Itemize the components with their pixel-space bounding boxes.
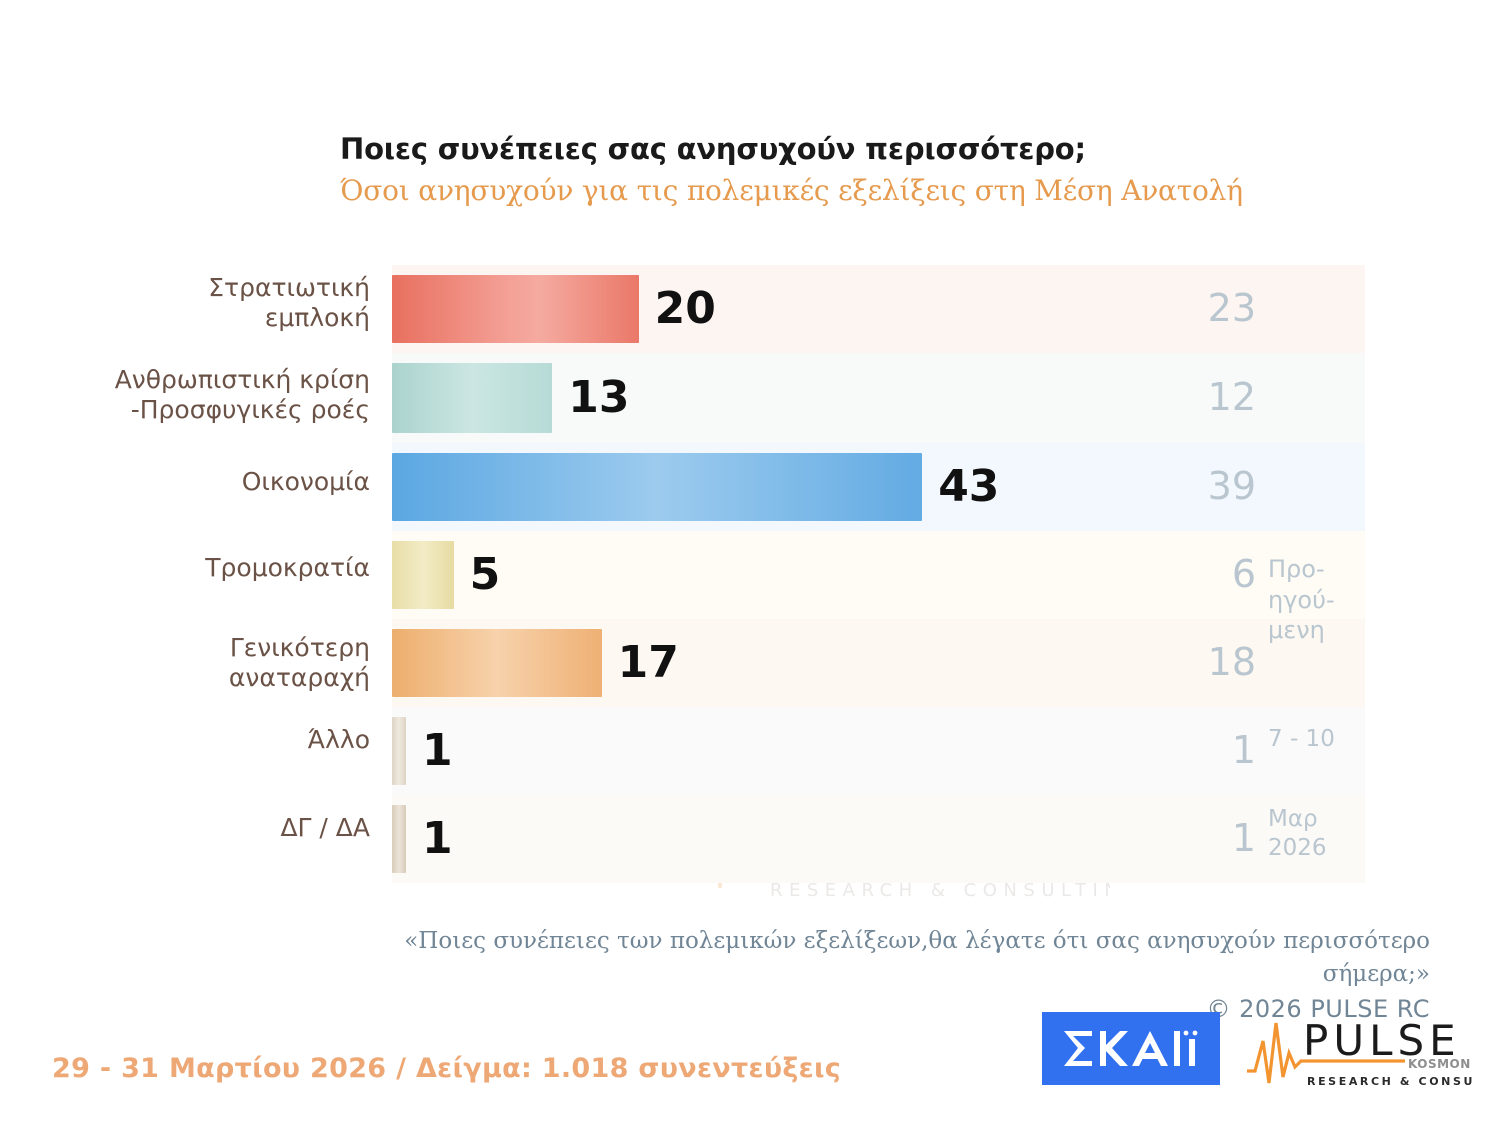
bar-group: 13 — [392, 363, 630, 433]
bar — [392, 541, 454, 609]
title-block: Ποιες συνέπειες σας ανησυχούν περισσότερ… — [340, 133, 1340, 208]
sidenote-date-line2: 2026 — [1268, 834, 1373, 863]
sidenote-date: Μαρ 2026 — [1268, 805, 1373, 864]
bar — [392, 453, 922, 521]
survey-question: «Ποιες συνέπειες των πολεμικών εξελίξεων… — [340, 925, 1430, 992]
previous-value: 39 — [1160, 467, 1256, 505]
previous-value: 18 — [1160, 643, 1256, 681]
category-label-line2: εμπλοκή — [40, 303, 370, 333]
previous-value: 23 — [1160, 289, 1256, 327]
bar-group: 1 — [392, 805, 453, 873]
sidenote-range: 7 - 10 — [1268, 725, 1373, 754]
category-label: Στρατιωτικήεμπλοκή — [40, 273, 370, 332]
sidenote-previous-line2: ηγού- — [1268, 585, 1373, 616]
bar-group: 1 — [392, 717, 453, 785]
bar-value: 20 — [655, 287, 716, 331]
skai-logo — [1042, 1012, 1220, 1085]
bar-chart: PULSE KOSMON RESEARCH & CONSULTING Στρατ… — [0, 265, 1500, 875]
previous-value: 1 — [1160, 731, 1256, 769]
bar-value: 1 — [422, 729, 453, 773]
sidenote-date-line1: Μαρ — [1268, 805, 1373, 834]
category-label: Οικονομία — [40, 467, 370, 497]
category-label: Ανθρωπιστική κρίση-Προσφυγικές ροές — [40, 365, 370, 424]
category-label-line2: αναταραχή — [40, 663, 370, 693]
category-label-line1: Στρατιωτική — [40, 273, 370, 303]
fieldwork-info: 29 - 31 Μαρτίου 2026 / Δείγμα: 1.018 συν… — [52, 1053, 841, 1084]
bar-group: 5 — [392, 541, 500, 609]
sidenote-previous: Προ- ηγού- μενη — [1268, 554, 1373, 646]
category-label-line1: Οικονομία — [40, 467, 370, 497]
page-subtitle: Όσοι ανησυχούν για τις πολεμικές εξελίξε… — [340, 174, 1340, 208]
sidenote-previous-line1: Προ- — [1268, 554, 1373, 585]
category-label: Τρομοκρατία — [40, 553, 370, 583]
bar — [392, 805, 406, 873]
category-label-line1: Ανθρωπιστική κρίση — [40, 365, 370, 395]
bar-value: 13 — [568, 376, 629, 420]
bar — [392, 629, 602, 697]
bar-value: 17 — [618, 641, 679, 685]
bar — [392, 275, 639, 343]
svg-text:RESEARCH & CONSULTING: RESEARCH & CONSULTING — [1307, 1075, 1473, 1088]
previous-value: 6 — [1160, 555, 1256, 593]
category-label-line2: -Προσφυγικές ροές — [40, 395, 370, 425]
bar-value: 1 — [422, 817, 453, 861]
bar-value: 43 — [938, 465, 999, 509]
category-label-line1: ΔΓ / ΔΑ — [40, 813, 370, 843]
bar-group: 20 — [392, 275, 716, 343]
svg-text:RESEARCH & CONSULTING: RESEARCH & CONSULTING — [770, 880, 1110, 901]
bar-group: 43 — [392, 453, 999, 521]
category-label: ΔΓ / ΔΑ — [40, 813, 370, 843]
bar — [392, 363, 552, 433]
category-label: Άλλο — [40, 725, 370, 755]
bar-group: 17 — [392, 629, 679, 697]
svg-text:KOSMON: KOSMON — [1408, 1057, 1471, 1071]
bar — [392, 717, 406, 785]
category-label: Γενικότερηαναταραχή — [40, 633, 370, 692]
footer-note: «Ποιες συνέπειες των πολεμικών εξελίξεων… — [340, 925, 1430, 1026]
previous-value: 1 — [1160, 819, 1256, 857]
page-title: Ποιες συνέπειες σας ανησυχούν περισσότερ… — [340, 133, 1340, 166]
bar-value: 5 — [470, 553, 501, 597]
previous-value: 12 — [1160, 378, 1256, 416]
category-label-line1: Τρομοκρατία — [40, 553, 370, 583]
category-label-line1: Άλλο — [40, 725, 370, 755]
pulse-logo: PULSE KOSMON RESEARCH & CONSULTING — [1245, 1013, 1473, 1091]
sidenote-previous-line3: μενη — [1268, 615, 1373, 646]
category-label-line1: Γενικότερη — [40, 633, 370, 663]
